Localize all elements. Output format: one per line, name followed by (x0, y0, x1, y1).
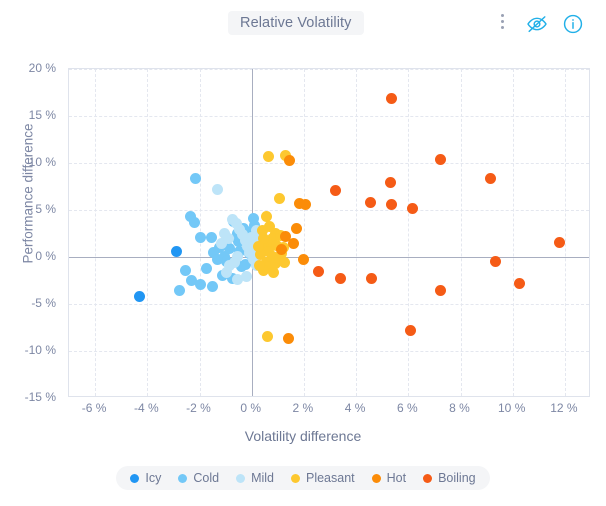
menu-dot (501, 20, 504, 23)
x-axis-tick-label: 2 % (293, 401, 314, 415)
scatter-point-mild[interactable] (223, 233, 234, 244)
scatter-point-boiling[interactable] (313, 266, 324, 277)
x-axis-tick-label: 4 % (345, 401, 366, 415)
x-axis-tick-label: 8 % (449, 401, 470, 415)
legend-label: Boiling (438, 471, 476, 485)
legend-item-icy[interactable]: Icy (130, 471, 161, 485)
y-axis-tick-label: -10 % (25, 343, 56, 357)
scatter-point-hot[interactable] (284, 155, 295, 166)
legend-swatch-cold-icon (178, 474, 187, 483)
scatter-point-hot[interactable] (291, 223, 302, 234)
scatter-point-boiling[interactable] (330, 185, 341, 196)
scatter-point-boiling[interactable] (365, 197, 376, 208)
scatter-point-pleasant[interactable] (262, 331, 273, 342)
scatter-point-boiling[interactable] (405, 325, 416, 336)
scatter-point-cold[interactable] (201, 263, 212, 274)
scatter-point-hot[interactable] (280, 231, 291, 242)
scatter-point-boiling[interactable] (435, 285, 446, 296)
legend-item-pleasant[interactable]: Pleasant (291, 471, 355, 485)
scatter-point-boiling[interactable] (490, 256, 501, 267)
scatter-point-cold[interactable] (190, 173, 201, 184)
gridline-vertical (408, 69, 409, 396)
scatter-point-pleasant[interactable] (261, 211, 272, 222)
legend-item-boiling[interactable]: Boiling (423, 471, 476, 485)
scatter-point-pleasant[interactable] (253, 241, 264, 252)
x-axis-label: Volatility difference (0, 428, 606, 444)
x-axis-ticks: -6 %-4 %-2 %0 %2 %4 %6 %8 %10 %12 % (68, 401, 590, 421)
scatter-point-cold[interactable] (189, 217, 200, 228)
chart-container: Performance difference 20 %15 %10 %5 %0 … (0, 46, 606, 458)
scatter-point-cold[interactable] (206, 232, 217, 243)
scatter-point-pleasant[interactable] (263, 151, 274, 162)
legend-label: Mild (251, 471, 274, 485)
gridline-vertical (147, 69, 148, 396)
y-axis-tick-label: -5 % (31, 296, 56, 310)
scatter-plot-area[interactable] (68, 68, 590, 397)
zero-axis-horizontal (69, 257, 589, 258)
scatter-point-mild[interactable] (212, 184, 223, 195)
scatter-point-boiling[interactable] (514, 278, 525, 289)
scatter-point-cold[interactable] (174, 285, 185, 296)
scatter-point-boiling[interactable] (407, 203, 418, 214)
scatter-point-cold[interactable] (195, 232, 206, 243)
x-axis-tick-label: 6 % (397, 401, 418, 415)
more-options-icon[interactable] (495, 14, 509, 34)
scatter-point-boiling[interactable] (385, 177, 396, 188)
legend-item-mild[interactable]: Mild (236, 471, 274, 485)
scatter-point-cold[interactable] (180, 265, 191, 276)
y-axis-tick-label: 10 % (29, 155, 56, 169)
legend-label: Cold (193, 471, 219, 485)
legend-swatch-hot-icon (372, 474, 381, 483)
legend-label: Pleasant (306, 471, 355, 485)
y-axis-tick-label: 5 % (35, 202, 56, 216)
chart-header: Relative Volatility (0, 0, 606, 46)
y-axis-tick-label: -15 % (25, 390, 56, 404)
scatter-point-icy[interactable] (171, 246, 182, 257)
legend-item-cold[interactable]: Cold (178, 471, 219, 485)
gridline-vertical (356, 69, 357, 396)
scatter-point-boiling[interactable] (386, 199, 397, 210)
scatter-point-boiling[interactable] (366, 273, 377, 284)
scatter-point-cold[interactable] (195, 279, 206, 290)
scatter-point-boiling[interactable] (335, 273, 346, 284)
x-axis-tick-label: -2 % (186, 401, 211, 415)
y-axis-tick-label: 0 % (35, 249, 56, 263)
chart-legend: IcyColdMildPleasantHotBoiling (0, 466, 606, 490)
scatter-point-hot[interactable] (298, 254, 309, 265)
legend-items: IcyColdMildPleasantHotBoiling (116, 466, 489, 490)
menu-dot (501, 14, 504, 17)
y-axis-tick-label: 15 % (29, 108, 56, 122)
gridline-vertical (565, 69, 566, 396)
eye-off-icon[interactable] (526, 13, 548, 40)
scatter-point-boiling[interactable] (386, 93, 397, 104)
legend-swatch-pleasant-icon (291, 474, 300, 483)
gridline-vertical (513, 69, 514, 396)
y-axis-ticks: 20 %15 %10 %5 %0 %-5 %-10 %-15 % (0, 68, 62, 397)
legend-swatch-icy-icon (130, 474, 139, 483)
scatter-point-pleasant[interactable] (268, 267, 279, 278)
scatter-point-pleasant[interactable] (274, 193, 285, 204)
legend-swatch-mild-icon (236, 474, 245, 483)
scatter-point-cold[interactable] (207, 281, 218, 292)
scatter-point-boiling[interactable] (554, 237, 565, 248)
x-axis-tick-label: -4 % (134, 401, 159, 415)
legend-label: Hot (387, 471, 406, 485)
legend-label: Icy (145, 471, 161, 485)
x-axis-tick-label: 10 % (498, 401, 525, 415)
y-axis-tick-label: 20 % (29, 61, 56, 75)
legend-item-hot[interactable]: Hot (372, 471, 406, 485)
page-title: Relative Volatility (228, 11, 364, 35)
x-axis-tick-label: 0 % (240, 401, 261, 415)
gridline-vertical (461, 69, 462, 396)
gridline-vertical (95, 69, 96, 396)
scatter-point-boiling[interactable] (485, 173, 496, 184)
scatter-point-hot[interactable] (283, 333, 294, 344)
scatter-point-hot[interactable] (300, 199, 311, 210)
scatter-point-mild[interactable] (241, 271, 252, 282)
gridline-vertical (304, 69, 305, 396)
scatter-point-icy[interactable] (134, 291, 145, 302)
legend-swatch-boiling-icon (423, 474, 432, 483)
menu-dot (501, 26, 504, 29)
info-icon[interactable] (562, 13, 584, 40)
x-axis-tick-label: -6 % (82, 401, 107, 415)
x-axis-tick-label: 12 % (550, 401, 577, 415)
scatter-point-pleasant[interactable] (257, 225, 268, 236)
